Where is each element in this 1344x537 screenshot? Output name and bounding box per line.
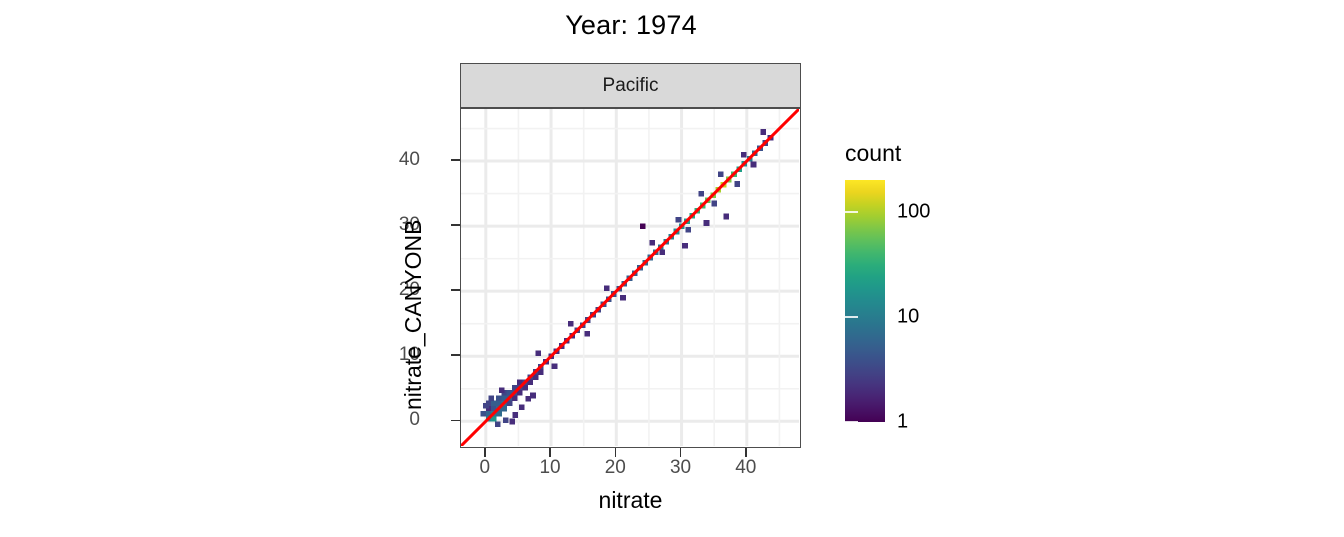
x-tick-mark bbox=[549, 448, 551, 457]
legend-tick-mark bbox=[832, 421, 845, 423]
x-tick-label: 10 bbox=[539, 457, 560, 479]
legend-tick-mark bbox=[832, 211, 845, 213]
legend-title: count bbox=[845, 140, 901, 167]
legend-tick-label: 10 bbox=[897, 305, 919, 328]
x-tick-mark bbox=[680, 448, 682, 457]
x-tick-mark bbox=[615, 448, 617, 457]
x-tick-mark bbox=[745, 448, 747, 457]
legend-tick-mark bbox=[845, 211, 858, 213]
legend-tick-mark bbox=[832, 316, 845, 318]
x-tick-mark bbox=[484, 448, 486, 457]
y-axis-title: nitrate_CANYONB bbox=[400, 220, 427, 410]
x-tick-label: 40 bbox=[735, 457, 756, 479]
x-tick-label: 30 bbox=[670, 457, 691, 479]
legend-tick-mark bbox=[845, 421, 858, 423]
x-axis-title: nitrate bbox=[460, 487, 801, 514]
x-axis-ticks: 010203040 bbox=[0, 0, 1344, 537]
chart-root: Year: 1974 Pacific 010203040 010203040 n… bbox=[0, 0, 1344, 537]
legend-tick-label: 100 bbox=[897, 200, 930, 223]
legend-colorbar bbox=[845, 180, 885, 422]
x-tick-label: 0 bbox=[479, 457, 490, 479]
legend-tick-label: 1 bbox=[897, 411, 908, 434]
legend-tick-mark bbox=[845, 316, 858, 318]
x-tick-label: 20 bbox=[605, 457, 626, 479]
